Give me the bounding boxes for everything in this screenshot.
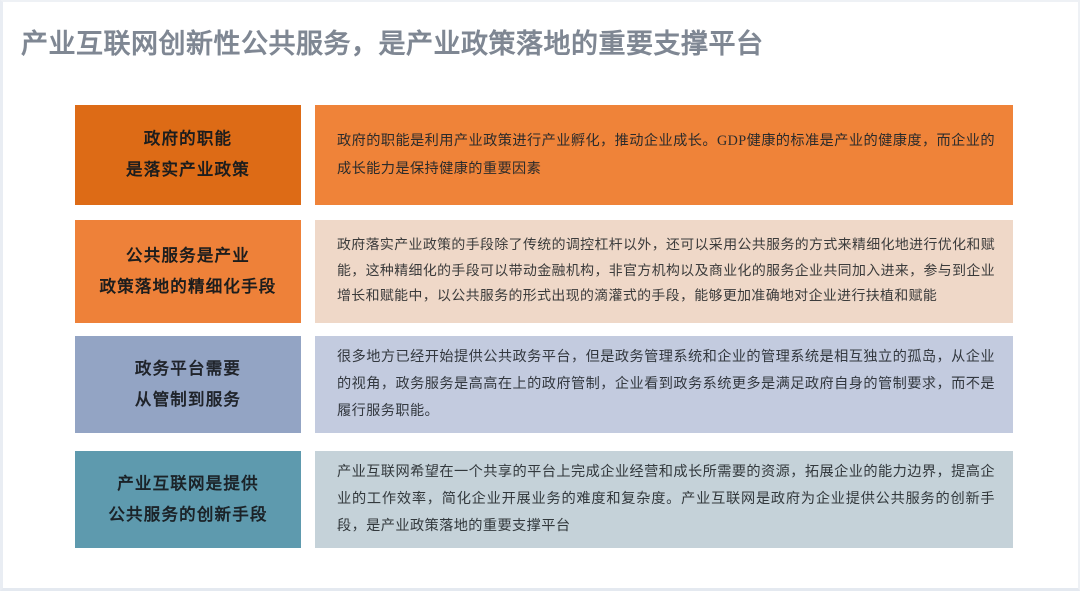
slide-canvas: 产业互联网创新性公共服务，是产业政策落地的重要支撑平台 政府的职能 是落实产业政… xyxy=(0,0,1080,591)
row-content-text: 政府的职能是利用产业政策进行产业孵化，推动企业成长。GDP健康的标准是产业的健康… xyxy=(315,127,1013,184)
row-content-box[interactable]: 很多地方已经开始提供公共政务平台，但是政务管理系统和企业的管理系统是相互独立的孤… xyxy=(315,336,1013,433)
row-label-box[interactable]: 政务平台需要 从管制到服务 xyxy=(75,336,301,433)
row-label-box[interactable]: 政府的职能 是落实产业政策 xyxy=(75,105,301,205)
row-label-text: 公共服务是产业 政策落地的精细化手段 xyxy=(100,241,277,302)
row-label-box[interactable]: 公共服务是产业 政策落地的精细化手段 xyxy=(75,220,301,323)
row-label-box[interactable]: 产业互联网是提供 公共服务的创新手段 xyxy=(75,451,301,548)
row-content-text: 产业互联网希望在一个共享的平台上完成企业经营和成长所需要的资源，拓展企业的能力边… xyxy=(315,459,1013,540)
row-label-text: 政府的职能 是落实产业政策 xyxy=(126,124,250,185)
page-title: 产业互联网创新性公共服务，是产业政策落地的重要支撑平台 xyxy=(21,22,764,61)
row-content-box[interactable]: 政府的职能是利用产业政策进行产业孵化，推动企业成长。GDP健康的标准是产业的健康… xyxy=(315,105,1013,205)
row-content-text: 很多地方已经开始提供公共政务平台，但是政务管理系统和企业的管理系统是相互独立的孤… xyxy=(315,344,1013,425)
diagram-row: 公共服务是产业 政策落地的精细化手段 政府落实产业政策的手段除了传统的调控杠杆以… xyxy=(75,220,1013,323)
diagram-row: 政府的职能 是落实产业政策 政府的职能是利用产业政策进行产业孵化，推动企业成长。… xyxy=(75,105,1013,205)
row-label-text: 产业互联网是提供 公共服务的创新手段 xyxy=(108,469,267,530)
diagram-row: 产业互联网是提供 公共服务的创新手段 产业互联网希望在一个共享的平台上完成企业经… xyxy=(75,451,1013,548)
diagram-row: 政务平台需要 从管制到服务 很多地方已经开始提供公共政务平台，但是政务管理系统和… xyxy=(75,336,1013,433)
row-content-box[interactable]: 政府落实产业政策的手段除了传统的调控杠杆以外，还可以采用公共服务的方式来精细化地… xyxy=(315,220,1013,323)
row-content-text: 政府落实产业政策的手段除了传统的调控杠杆以外，还可以采用公共服务的方式来精细化地… xyxy=(315,233,1013,311)
row-content-box[interactable]: 产业互联网希望在一个共享的平台上完成企业经营和成长所需要的资源，拓展企业的能力边… xyxy=(315,451,1013,548)
row-label-text: 政务平台需要 从管制到服务 xyxy=(135,354,241,415)
